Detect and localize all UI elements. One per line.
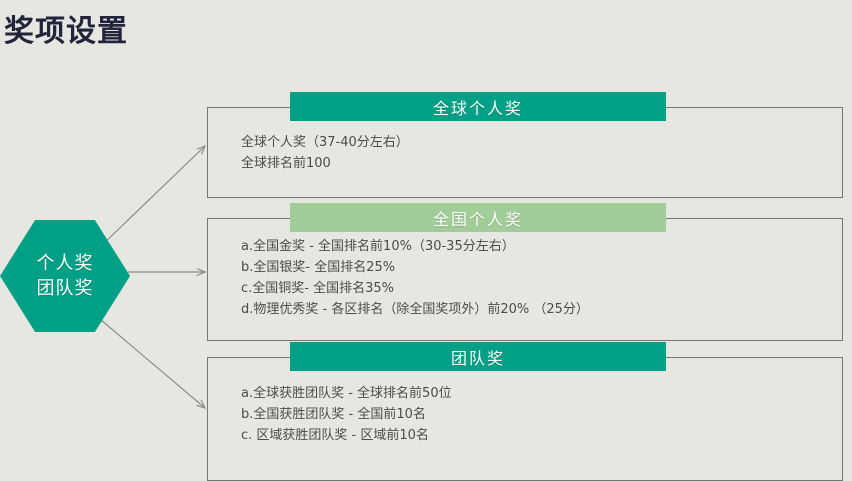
card-line: c. 区域获胜团队奖 - 区域前10名 bbox=[241, 425, 452, 446]
card-header-team-award: 团队奖 bbox=[290, 342, 666, 371]
card-line: c.全国铜奖- 全国排名35% bbox=[241, 278, 589, 299]
card-header-global-individual: 全球个人奖 bbox=[290, 92, 666, 121]
page-title: 奖项设置 bbox=[4, 6, 128, 50]
card-line: d.物理优秀奖 - 各区排名（除全国奖项外）前20% （25分） bbox=[241, 299, 589, 320]
card-line: b.全国银奖- 全国排名25% bbox=[241, 257, 589, 278]
card-lines-team-award: a.全球获胜团队奖 - 全球排名前50位 b.全国获胜团队奖 - 全国前10名 … bbox=[241, 383, 452, 446]
root-node-hexagon[interactable]: 个人奖 团队奖 bbox=[0, 220, 130, 332]
card-lines-national-individual: a.全国金奖 - 全国排名前10%（30-35分左右） b.全国银奖- 全国排名… bbox=[241, 236, 589, 320]
card-line: a.全球获胜团队奖 - 全球排名前50位 bbox=[241, 383, 452, 404]
card-line: a.全国金奖 - 全国排名前10%（30-35分左右） bbox=[241, 236, 589, 257]
card-line: 全球排名前100 bbox=[241, 153, 409, 174]
hexagon-label-line2: 团队奖 bbox=[37, 276, 94, 301]
diagram-canvas: 奖项设置 个人奖 团队奖 全球个人奖 全球个人奖（37-40分左右） 全球排名前… bbox=[0, 0, 852, 472]
card-line: b.全国获胜团队奖 - 全国前10名 bbox=[241, 404, 452, 425]
hexagon-label-line1: 个人奖 bbox=[37, 251, 94, 276]
card-line: 全球个人奖（37-40分左右） bbox=[241, 132, 409, 153]
arrow-to-team-award bbox=[101, 320, 205, 408]
card-header-national-individual: 全国个人奖 bbox=[290, 203, 666, 232]
card-lines-global-individual: 全球个人奖（37-40分左右） 全球排名前100 bbox=[241, 132, 409, 174]
hexagon-label: 个人奖 团队奖 bbox=[0, 220, 130, 332]
